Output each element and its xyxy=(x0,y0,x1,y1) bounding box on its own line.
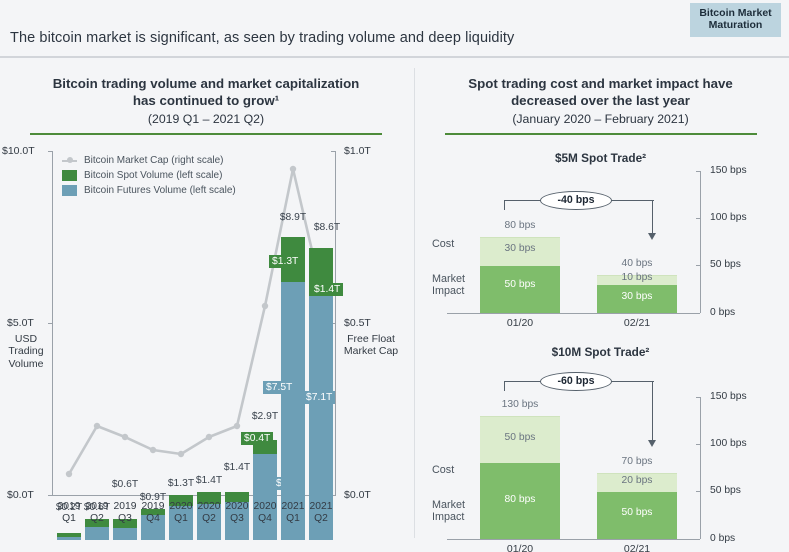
right-chart-subtitle: (January 2020 – February 2021) xyxy=(430,110,771,127)
chart-5m-y-axis xyxy=(700,171,701,313)
bar-series: $0.2T $0.6T $0.6T $0.9T xyxy=(0,135,412,540)
callout-arrow-icon xyxy=(648,440,656,447)
badge-line-1: Bitcoin Market xyxy=(698,7,773,19)
spot-trade-5m-chart: $5M Spot Trade² 150 bps 100 bps 50 bps 0… xyxy=(412,135,789,335)
left-title-line-1: Bitcoin trading volume and market capita… xyxy=(18,76,394,93)
bar-group: $1.4T xyxy=(225,180,249,540)
slide: Bitcoin Market Maturation The bitcoin ma… xyxy=(0,0,789,552)
right-chart-title: Spot trading cost and market impact have… xyxy=(412,62,789,127)
callout-line xyxy=(652,200,653,234)
callout-badge-10m: -60 bps xyxy=(540,372,612,391)
y-tick-label: 50 bps xyxy=(710,485,741,496)
y-tick xyxy=(696,444,700,445)
callout-line xyxy=(610,200,654,201)
y-tick-label: 0 bps xyxy=(710,533,735,544)
bar-group: $0.2T xyxy=(57,180,81,540)
page-title: The bitcoin market is significant, as se… xyxy=(10,30,514,46)
x-tick-label: 01/20 xyxy=(480,317,560,329)
total-label: 80 bps xyxy=(480,220,560,231)
cost-value-label: 30 bps xyxy=(480,243,560,254)
row-label-market-impact: MarketImpact xyxy=(432,273,484,298)
impact-value-label: 80 bps xyxy=(480,494,560,505)
total-label: 70 bps xyxy=(597,456,677,467)
y-tick-label: 150 bps xyxy=(710,165,747,176)
futures-bar xyxy=(85,527,109,540)
x-tick-label: 01/20 xyxy=(480,543,560,552)
total-label: 40 bps xyxy=(597,258,677,269)
chart-10m-x-axis xyxy=(447,539,700,540)
futures-bar xyxy=(57,537,81,540)
y-tick xyxy=(696,218,700,219)
y-tick xyxy=(696,171,700,172)
callout-line xyxy=(652,381,653,441)
header-divider xyxy=(0,56,789,58)
chart-5m-title: $5M Spot Trade² xyxy=(412,135,789,165)
impact-value-label: 50 bps xyxy=(597,507,677,518)
callout-badge-5m: -40 bps xyxy=(540,191,612,210)
callout-line xyxy=(504,200,505,210)
spot-bar xyxy=(57,533,81,537)
x-tick-label: 2021Q2 xyxy=(297,501,345,526)
y-tick-label: 100 bps xyxy=(710,212,747,223)
cost-value-label: 10 bps xyxy=(597,272,677,283)
futures-value-label: $7.1T xyxy=(303,391,335,404)
y-tick-label: 100 bps xyxy=(710,438,747,449)
row-label-market-impact: MarketImpact xyxy=(432,499,484,524)
badge-line-2: Maturation xyxy=(698,19,773,31)
callout-line xyxy=(504,200,544,201)
section-badge: Bitcoin Market Maturation xyxy=(690,3,781,37)
left-title-line-2: has continued to grow¹ xyxy=(18,93,394,110)
bar-group: $1.3T xyxy=(169,180,193,540)
bar-group: $0.6T xyxy=(113,180,137,540)
right-panel: Spot trading cost and market impact have… xyxy=(412,62,789,552)
y-tick-label: 50 bps xyxy=(710,259,741,270)
left-chart-title: Bitcoin trading volume and market capita… xyxy=(0,62,412,127)
futures-bar xyxy=(113,528,137,540)
left-chart-subtitle: (2019 Q1 – 2021 Q2) xyxy=(18,110,394,127)
x-tick-label: 02/21 xyxy=(597,317,677,329)
spot-value-label: $1.4T xyxy=(311,283,343,296)
volume-market-cap-chart: Bitcoin Market Cap (right scale) Bitcoin… xyxy=(0,135,412,540)
bar-group: $7.1T $1.4T $8.6T xyxy=(309,180,333,540)
y-tick-label: 150 bps xyxy=(710,391,747,402)
right-title-line-1: Spot trading cost and market impact have xyxy=(430,76,771,93)
callout-arrow-icon xyxy=(648,233,656,240)
impact-value-label: 30 bps xyxy=(597,291,677,302)
bar-group: $7.5T $1.3T $8.9T xyxy=(281,180,305,540)
futures-value-label: $7.5T xyxy=(263,381,295,394)
left-panel: Bitcoin trading volume and market capita… xyxy=(0,62,412,552)
callout-line xyxy=(504,381,505,391)
callout-line xyxy=(504,381,544,382)
callout-line xyxy=(610,381,654,382)
y-tick-label: 0 bps xyxy=(710,307,735,318)
total-label: 130 bps xyxy=(480,399,560,410)
x-tick-label: 02/21 xyxy=(597,543,677,552)
chart-5m-x-axis xyxy=(447,313,700,314)
y-tick xyxy=(696,491,700,492)
futures-bar xyxy=(253,454,277,540)
row-label-cost: Cost xyxy=(432,238,454,250)
chart-10m-y-axis xyxy=(700,397,701,539)
bar-group: $1.4T xyxy=(197,180,221,540)
right-title-line-2: decreased over the last year xyxy=(430,93,771,110)
chart-10m-title: $10M Spot Trade² xyxy=(412,335,789,359)
cost-value-label: 20 bps xyxy=(597,475,677,486)
y-tick xyxy=(696,265,700,266)
spot-trade-10m-chart: $10M Spot Trade² 150 bps 100 bps 50 bps … xyxy=(412,335,789,552)
impact-value-label: 50 bps xyxy=(480,279,560,290)
spot-value-label: $0.4T xyxy=(241,432,273,445)
cost-value-label: 50 bps xyxy=(480,432,560,443)
bar-group: $2.5T $0.4T $2.9T xyxy=(253,180,277,540)
row-label-cost: Cost xyxy=(432,464,454,476)
spot-value-label: $1.3T xyxy=(269,255,301,268)
bar-total-label: $8.6T xyxy=(301,222,353,233)
y-tick xyxy=(696,397,700,398)
